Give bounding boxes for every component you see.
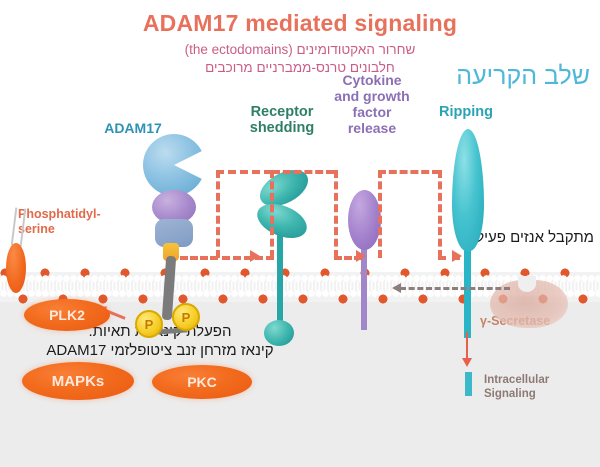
receptor-shedding-line-2: shedding xyxy=(236,120,328,136)
hebrew-active-enzyme-label: מתקבל אנזים פעיל xyxy=(476,229,594,246)
cytokine-line-4: release xyxy=(322,120,422,136)
cytokine-line-3: factor xyxy=(322,104,422,120)
ripping-label: Ripping xyxy=(420,104,512,120)
signal-path-riser-1 xyxy=(216,170,220,258)
membrane-transport-dashed-line xyxy=(400,287,510,290)
page-title: ADAM17 mediated signaling xyxy=(0,10,600,37)
phosphatidylserine-label-line-1: Phosphatidyl- xyxy=(18,207,128,222)
intracellular-line-1: Intracellular xyxy=(484,373,594,387)
cytokine-line-1: Cytokine xyxy=(322,72,422,88)
cytokine-line-2: and growth xyxy=(322,88,422,104)
signal-arrow-to-cytokine xyxy=(356,250,366,262)
signal-arrow-to-ripping xyxy=(452,250,462,262)
phosphatidylserine-label-line-2: serine xyxy=(18,222,128,237)
intracellular-signal-arrow-shaft xyxy=(466,332,468,360)
kinase-pkc: PKC xyxy=(152,365,252,399)
phosphate-group-1: P xyxy=(135,310,163,338)
hebrew-ripping-stage-label: שלב הקריעה xyxy=(456,62,590,91)
intracellular-legend-bar xyxy=(465,372,472,396)
signal-arrow-to-receptor xyxy=(250,250,260,262)
receptor-shedding-line-1: Receptor xyxy=(236,104,328,120)
diagram-canvas: ADAM17 mediated signaling שחרור האקטודומ… xyxy=(0,0,600,467)
receptor-cytoplasmic-knob xyxy=(264,320,294,346)
receptor-shedding-label: Receptor shedding xyxy=(236,104,328,136)
gamma-secretase-notch xyxy=(518,276,536,292)
subtitle-line-1: שחרור האקטודומינים (the ectodomains) xyxy=(0,42,600,57)
intracellular-signal-arrow-head xyxy=(462,358,472,367)
kinase-plk2: PLK2 xyxy=(24,299,110,331)
signal-path-riser-3 xyxy=(378,170,382,258)
signal-path-drop-2 xyxy=(334,170,338,258)
membrane-transport-arrow xyxy=(392,283,401,293)
phosphatidylserine-label: Phosphatidyl- serine xyxy=(18,207,128,237)
intracellular-line-2: Signaling xyxy=(484,387,594,401)
signal-path-drop-1 xyxy=(270,170,274,258)
signal-path-to-receptor xyxy=(222,256,274,260)
cytokine-ectodomain xyxy=(348,190,381,250)
phosphatidylserine-molecule xyxy=(6,243,26,293)
receptor-transmembrane-stem xyxy=(277,228,283,328)
signal-path-top-2 xyxy=(272,170,334,174)
adam17-label: ADAM17 xyxy=(88,120,178,136)
cytokine-release-label: Cytokine and growth factor release xyxy=(322,72,422,136)
signal-path-drop-3 xyxy=(438,170,442,258)
signal-path-top-3 xyxy=(378,170,440,174)
kinase-mapks: MAPKs xyxy=(22,362,134,400)
phosphate-group-2: P xyxy=(172,303,200,331)
intracellular-signaling-label: Intracellular Signaling xyxy=(484,373,594,401)
signal-path-top-1 xyxy=(216,170,272,174)
signal-path-from-adam17 xyxy=(180,256,218,260)
